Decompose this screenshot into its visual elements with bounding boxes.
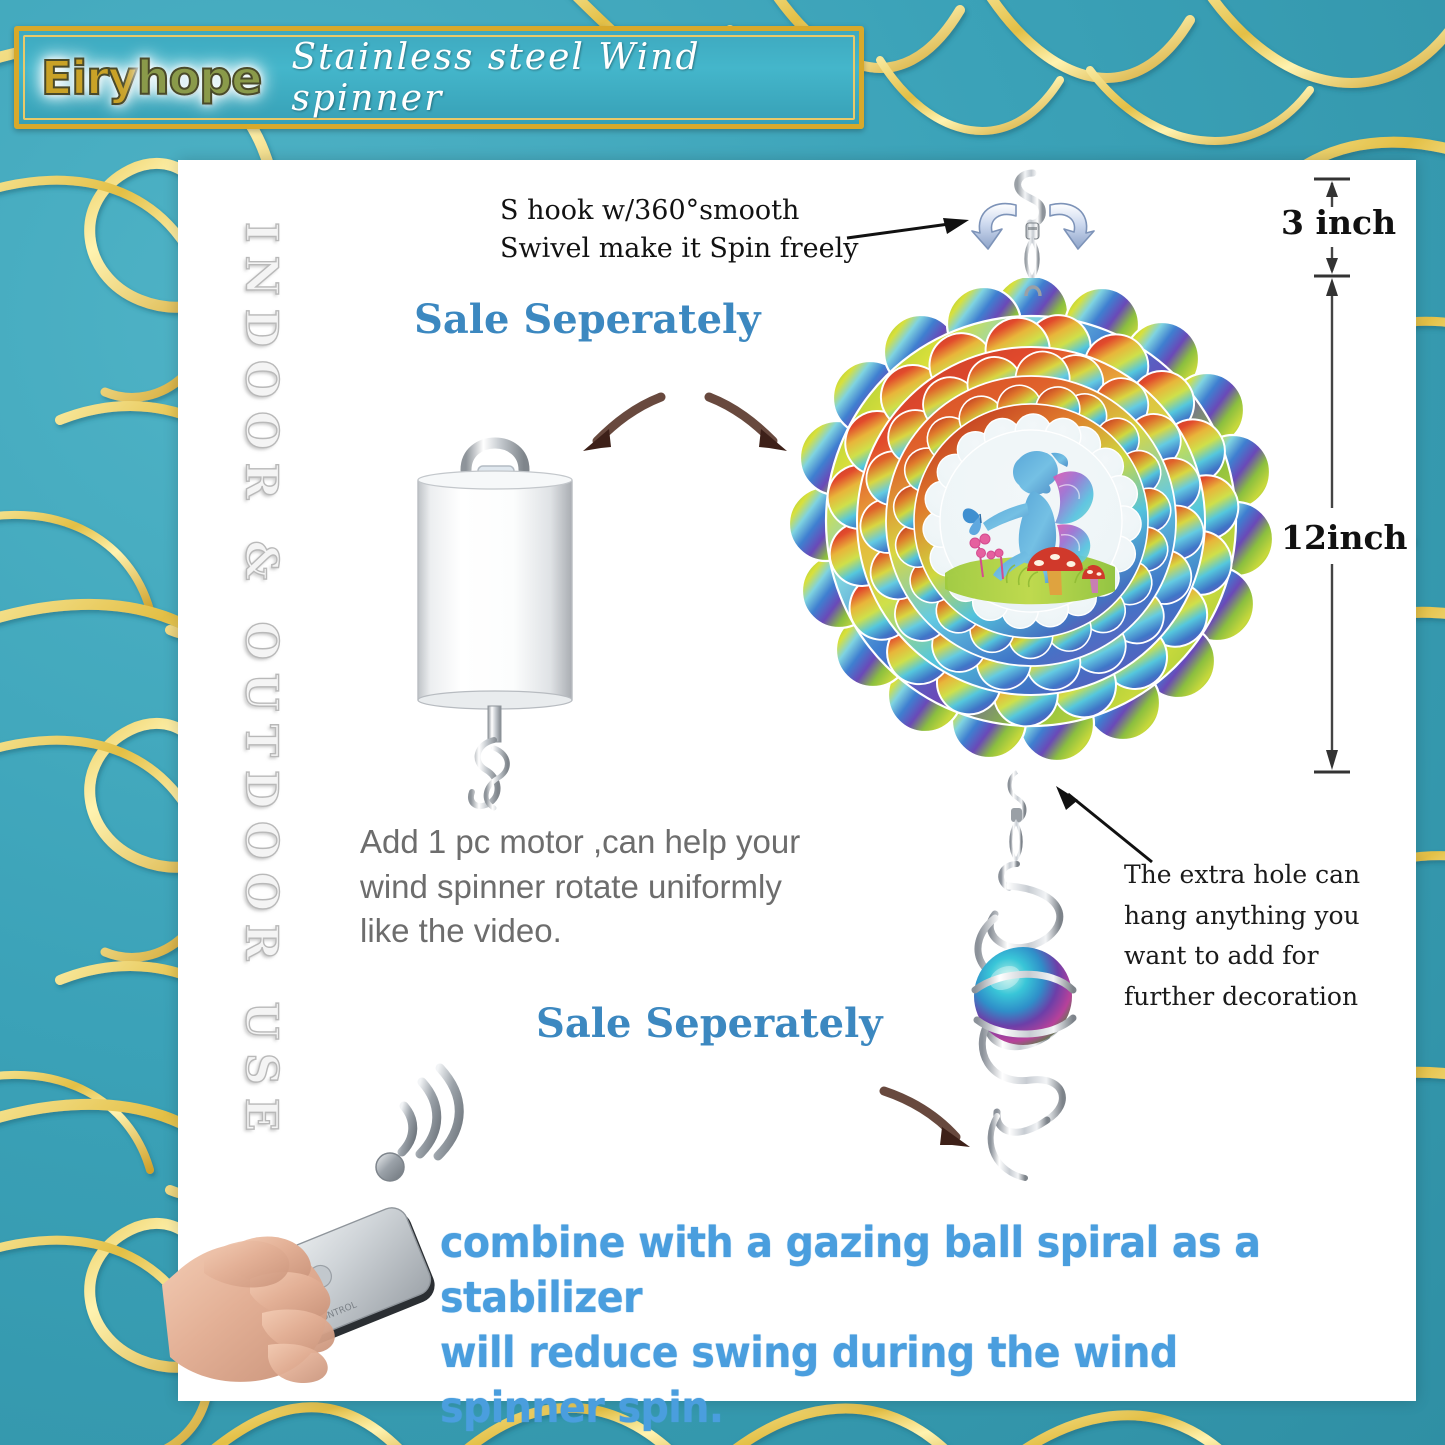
hand-holding-remote-icon: REMOTE CONTROL xyxy=(176,1175,476,1405)
wireless-signal-icon xyxy=(368,1072,498,1192)
motor-description: Add 1 pc motor ,can help your wind spinn… xyxy=(360,820,880,954)
extra-hole-line2: hang anything you xyxy=(1124,896,1394,937)
extra-hole-line1: The extra hole can xyxy=(1124,855,1394,896)
motor-line1: Add 1 pc motor ,can help your xyxy=(360,820,880,865)
bottom-headline-line2: will reduce swing during the wind spinne… xyxy=(440,1326,1305,1436)
indoor-outdoor-text: INDOOR & OUTDOOR USE xyxy=(236,222,287,1144)
bottom-headline: combine with a gazing ball spiral as a s… xyxy=(440,1216,1305,1436)
indoor-outdoor-label: INDOOR & OUTDOOR USE xyxy=(224,222,298,1122)
brand-logo-part1: Eiry xyxy=(41,51,137,105)
extra-hole-line4: further decoration xyxy=(1124,977,1394,1018)
rotate-ccw-arrow xyxy=(972,204,1016,249)
sale-separately-top: Sale Seperately xyxy=(414,296,760,343)
extra-hole-line3: want to add for xyxy=(1124,936,1394,977)
rotate-cw-arrow xyxy=(1050,204,1094,249)
motor-icon xyxy=(390,418,600,838)
brand-logo-part2: hope xyxy=(137,51,261,105)
brand-logo: Eiryhope xyxy=(41,51,261,105)
dimension-3-inch-label: 3 inch xyxy=(1281,203,1396,242)
banner-title: Stainless steel Wind spinner xyxy=(291,37,859,119)
arrow-to-hook xyxy=(845,212,975,252)
curved-arrow-to-spiral-icon xyxy=(880,1085,990,1175)
s-hook-line2: Swivel make it Spin freely xyxy=(500,230,900,268)
motor-line2: wind spinner rotate uniformly xyxy=(360,865,880,910)
motor-line3: like the video. xyxy=(360,909,880,954)
s-hook-line1: S hook w/360°smooth xyxy=(500,192,900,230)
infographic-root: Eiryhope Stainless steel Wind spinner IN… xyxy=(0,0,1445,1445)
bottom-headline-line1: combine with a gazing ball spiral as a s… xyxy=(440,1216,1305,1326)
curved-arrow-down-right-icon xyxy=(705,385,795,465)
wind-spinner-icon xyxy=(790,278,1272,764)
sale-separately-bottom: Sale Seperately xyxy=(536,1000,882,1047)
extra-hole-callout: The extra hole can hang anything you wan… xyxy=(1124,855,1394,1017)
dimension-12-inch-label: 12inch xyxy=(1281,518,1408,557)
brand-banner: Eiryhope Stainless steel Wind spinner xyxy=(14,26,864,129)
s-hook-callout: S hook w/360°smooth Swivel make it Spin … xyxy=(500,192,900,269)
